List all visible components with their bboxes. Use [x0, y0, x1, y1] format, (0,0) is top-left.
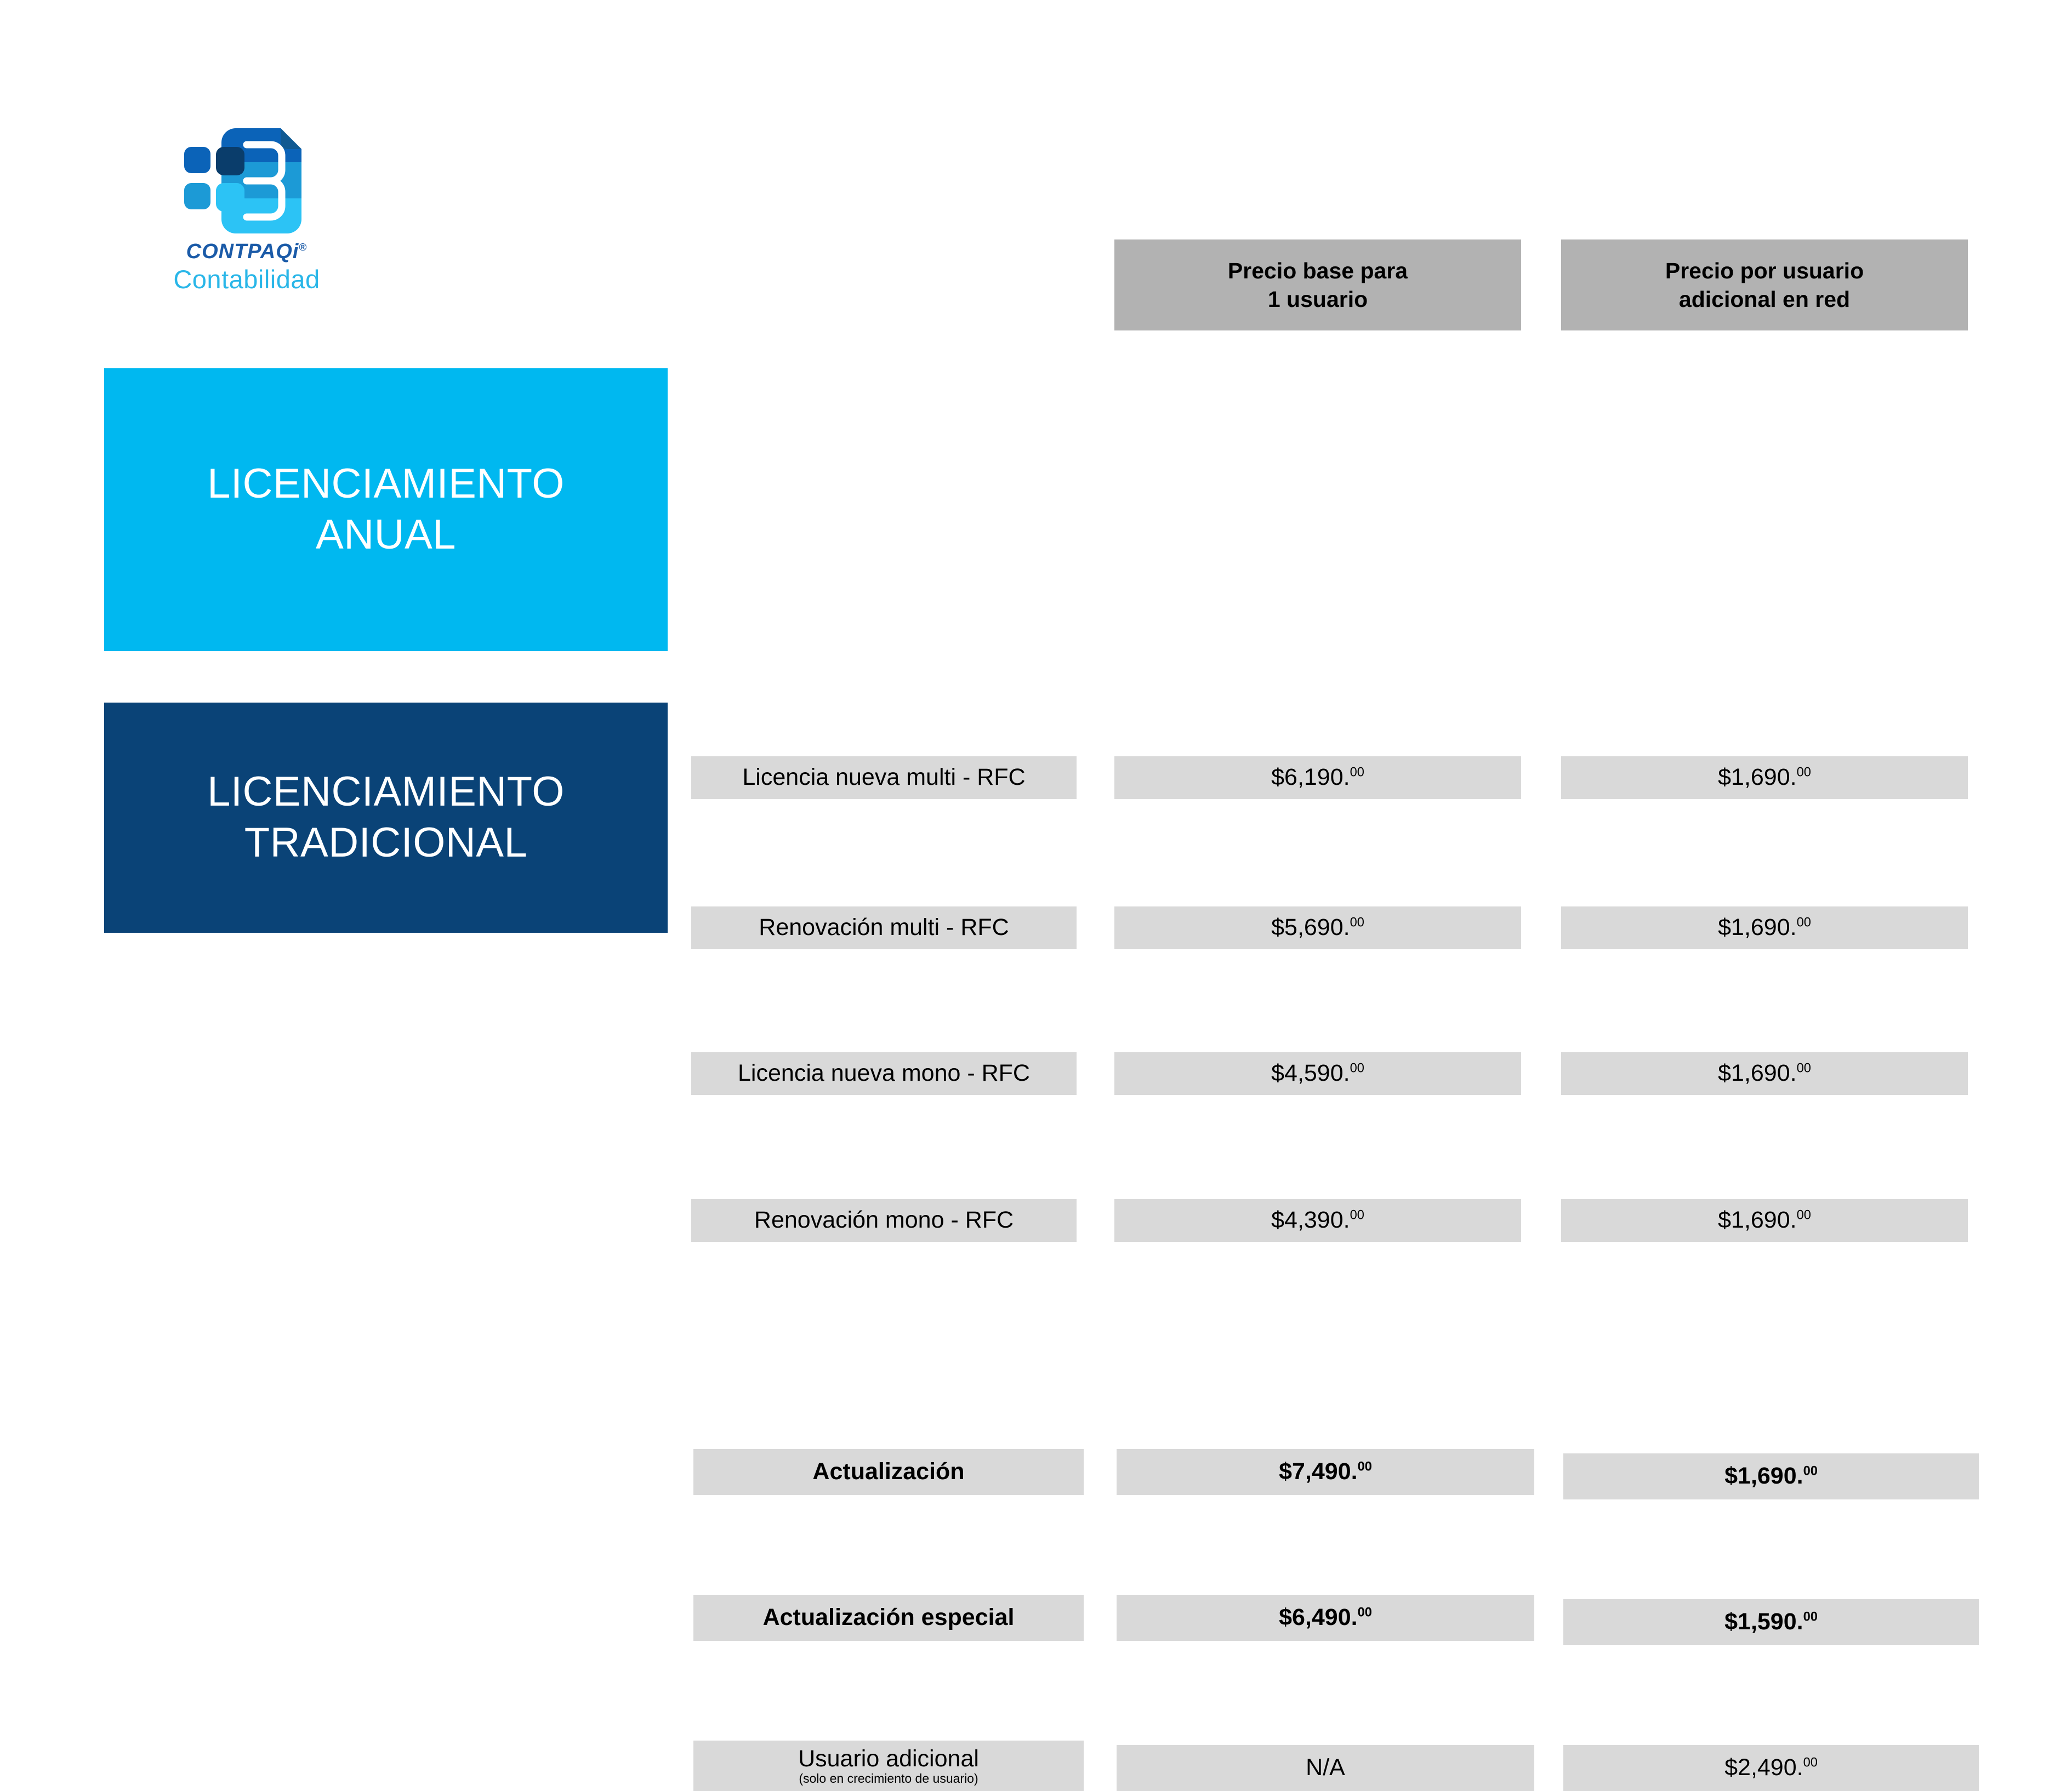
row-label: Actualización	[693, 1449, 1084, 1495]
row-label: Licencia nueva multi - RFC	[691, 756, 1077, 799]
price-extra-cell: $1,690.00	[1561, 1052, 1968, 1095]
row-label: Renovación mono - RFC	[691, 1199, 1077, 1242]
price-base-cell: $4,590.00	[1114, 1052, 1521, 1095]
section-banner-line2: TRADICIONAL	[244, 819, 527, 866]
price-value: $2,490.	[1724, 1754, 1803, 1781]
price-value: $6,190.	[1271, 764, 1350, 790]
price-base-cell: $6,490.00	[1117, 1595, 1534, 1641]
price-value: $1,590.	[1724, 1609, 1803, 1635]
price-extra-cell: $1,690.00	[1563, 1453, 1979, 1499]
price-cents: 00	[1358, 1606, 1372, 1620]
section-banner-line1: LICENCIAMIENTO	[207, 768, 565, 815]
price-value: $1,690.	[1718, 914, 1796, 940]
price-cents: 00	[1797, 1062, 1811, 1076]
price-base-cell: $5,690.00	[1114, 906, 1521, 949]
row-label: Usuario adicional (solo en crecimiento d…	[693, 1741, 1084, 1791]
column-header-line2: 1 usuario	[1268, 285, 1368, 313]
row-label-main: Usuario adicional	[798, 1747, 979, 1771]
brand-product-name: Contabilidad	[164, 266, 329, 292]
section-banner-line1: LICENCIAMIENTO	[207, 460, 565, 507]
column-header-precio-usuario-adicional: Precio por usuario adicional en red	[1561, 239, 1968, 330]
row-label: Licencia nueva mono - RFC	[691, 1052, 1077, 1095]
column-header-line1: Precio base para	[1228, 256, 1408, 285]
registered-mark: ®	[299, 242, 307, 253]
price-extra-cell: $1,690.00	[1561, 906, 1968, 949]
price-base-cell: $4,390.00	[1114, 1199, 1521, 1242]
price-cents: 00	[1358, 1460, 1372, 1474]
price-value: $1,690.	[1718, 764, 1796, 790]
brand-wordmark: CONTPAQi® Contabilidad	[164, 241, 329, 292]
price-base-cell: $7,490.00	[1117, 1449, 1534, 1495]
price-cents: 00	[1797, 1208, 1811, 1223]
price-base-cell: N/A	[1117, 1745, 1534, 1791]
price-cents: 00	[1350, 766, 1364, 780]
price-value: $7,490.	[1279, 1458, 1357, 1485]
price-cents: 00	[1350, 916, 1364, 930]
price-extra-cell: $2,490.00	[1563, 1745, 1979, 1791]
price-value: $4,590.	[1271, 1060, 1350, 1086]
column-header-line1: Precio por usuario	[1665, 256, 1864, 285]
price-value: N/A	[1306, 1754, 1345, 1781]
price-cents: 00	[1797, 916, 1811, 930]
column-header-precio-base: Precio base para 1 usuario	[1114, 239, 1521, 330]
row-label: Actualización especial	[693, 1595, 1084, 1641]
price-extra-cell: $1,690.00	[1561, 756, 1968, 799]
price-value: $6,490.	[1279, 1604, 1357, 1630]
price-cents: 00	[1803, 1756, 1818, 1770]
row-label: Renovación multi - RFC	[691, 906, 1077, 949]
price-value: $1,690.	[1724, 1463, 1803, 1489]
contpaqi-document-icon	[177, 126, 304, 236]
price-cents: 00	[1797, 766, 1811, 780]
price-value: $1,690.	[1718, 1060, 1796, 1086]
price-cents: 00	[1350, 1208, 1364, 1223]
brand-name: CONTPAQi®	[164, 241, 329, 262]
brand-logo: CONTPAQi® Contabilidad	[164, 126, 340, 312]
price-extra-cell: $1,590.00	[1563, 1599, 1979, 1645]
section-banner-line2: ANUAL	[316, 511, 456, 558]
price-cents: 00	[1803, 1464, 1818, 1479]
price-base-cell: $6,190.00	[1114, 756, 1521, 799]
price-value: $5,690.	[1271, 914, 1350, 940]
row-label-note: (solo en crecimiento de usuario)	[799, 1772, 978, 1785]
price-value: $1,690.	[1718, 1207, 1796, 1233]
section-banner-licenciamiento-tradicional: LICENCIAMIENTO TRADICIONAL	[104, 703, 668, 933]
price-cents: 00	[1350, 1062, 1364, 1076]
column-header-line2: adicional en red	[1679, 285, 1850, 313]
price-cents: 00	[1803, 1610, 1818, 1624]
price-extra-cell: $1,690.00	[1561, 1199, 1968, 1242]
price-value: $4,390.	[1271, 1207, 1350, 1233]
section-banner-licenciamiento-anual: LICENCIAMIENTO ANUAL	[104, 368, 668, 651]
